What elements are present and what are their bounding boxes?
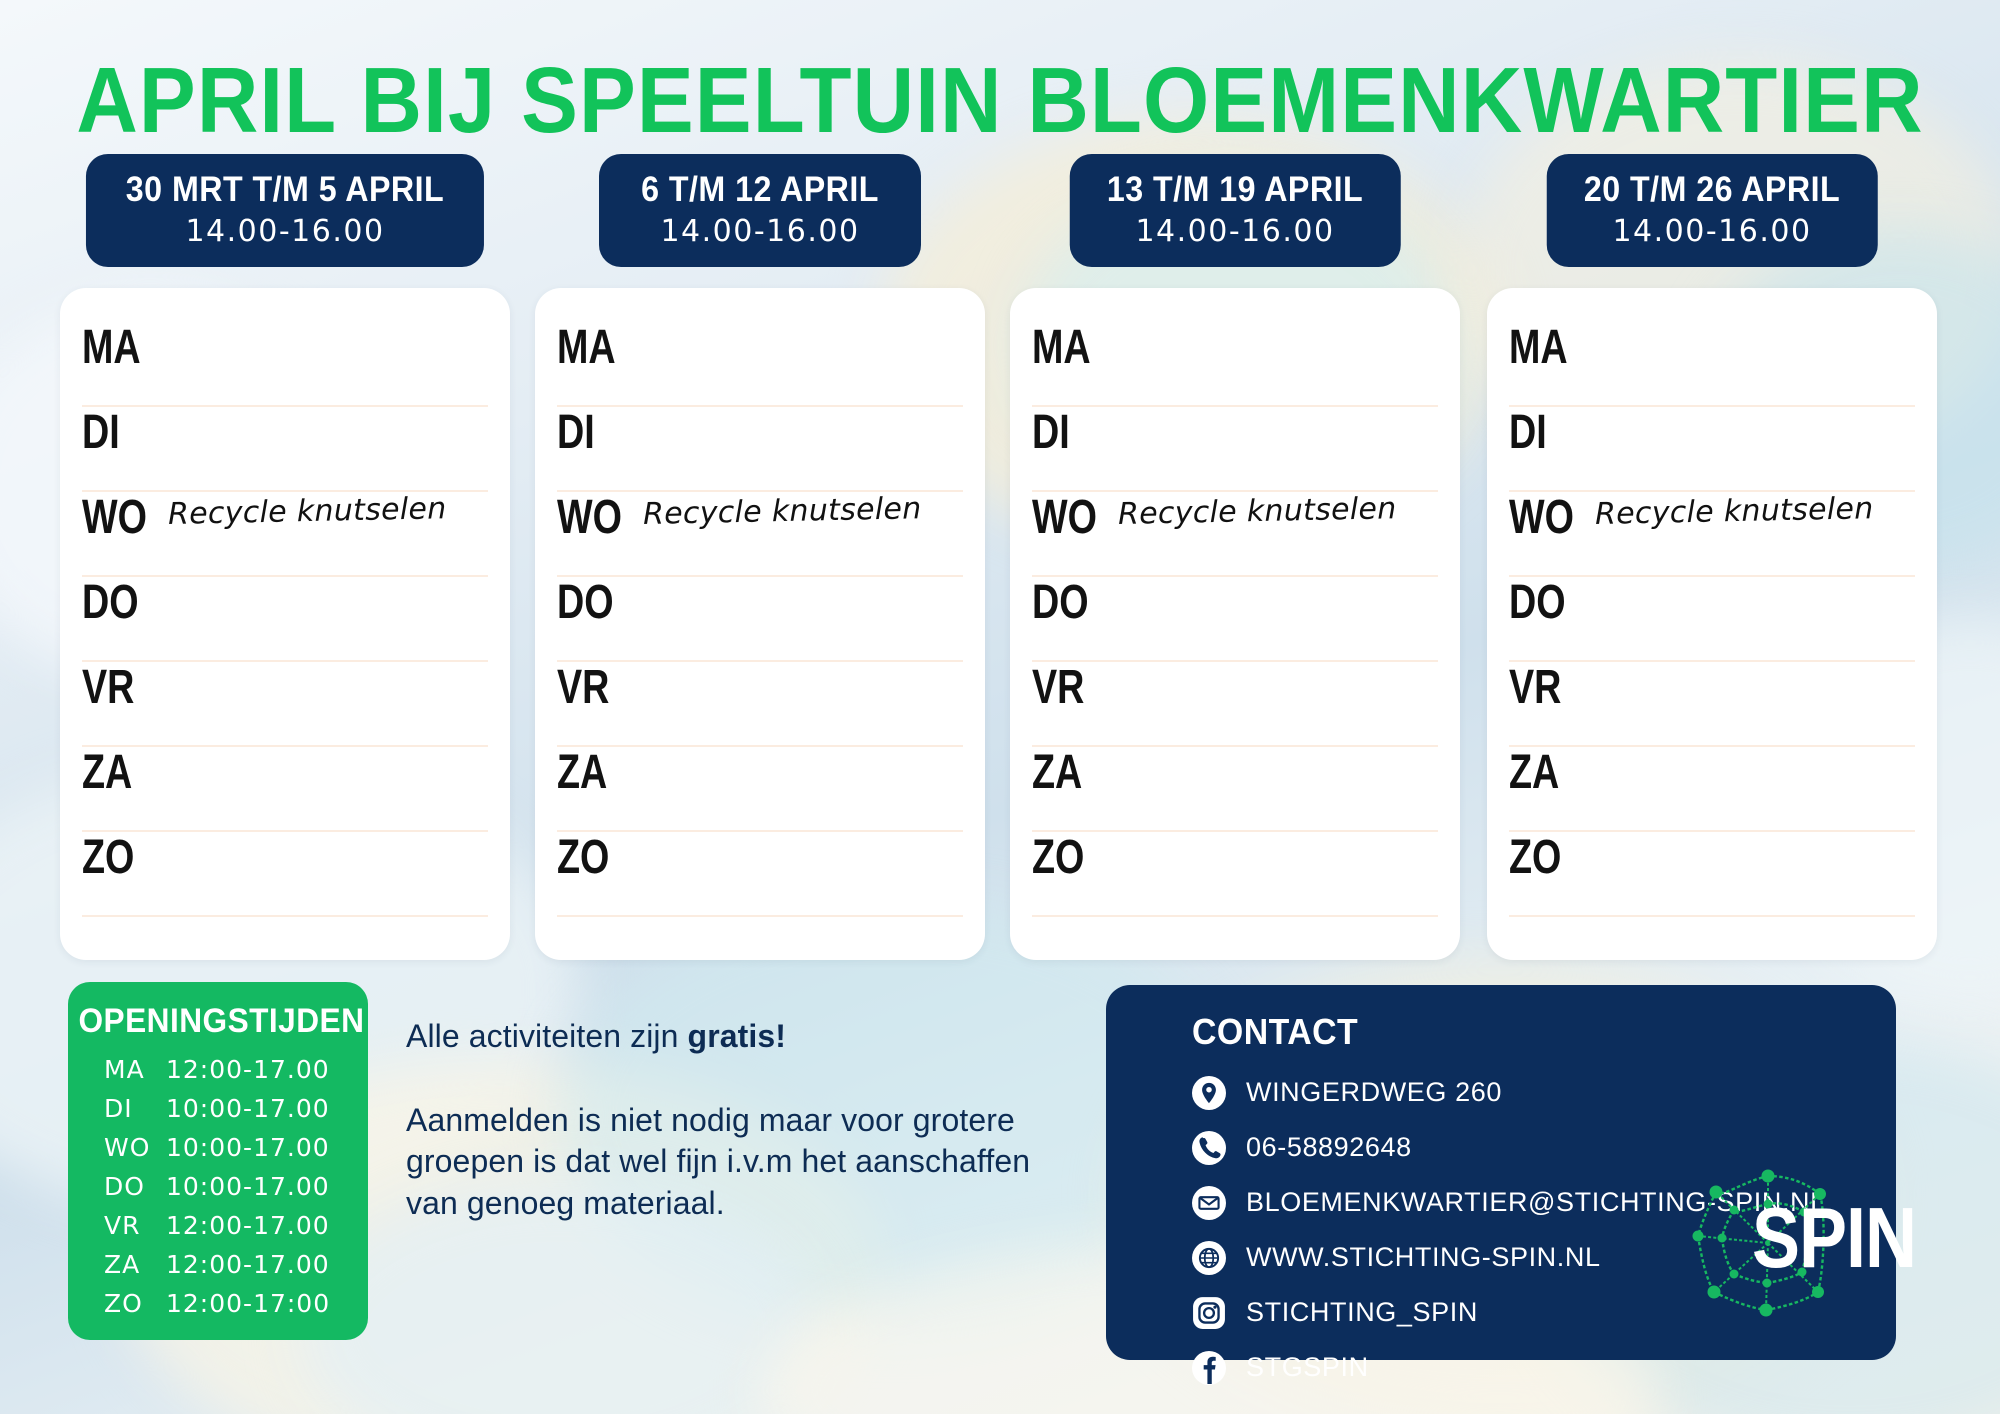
day-row: ZA bbox=[82, 747, 488, 832]
week-card-2: MA DI WORecycle knutselen DO VR ZA ZO 6 … bbox=[535, 288, 985, 960]
day-label: MA bbox=[1032, 322, 1103, 370]
opening-hours-row: ZO12:00-17:00 bbox=[68, 1289, 368, 1318]
day-row: MA bbox=[82, 322, 488, 407]
day-row: DI bbox=[557, 407, 963, 492]
day-label: DI bbox=[557, 407, 628, 455]
day-list: MA DI WORecycle knutselen DO VR ZA ZO bbox=[1487, 322, 1937, 917]
day-row: DO bbox=[557, 577, 963, 662]
day-label: WO bbox=[1032, 492, 1103, 540]
day-row: WORecycle knutselen bbox=[1509, 492, 1915, 577]
day-row: ZO bbox=[1032, 832, 1438, 917]
opening-hours-row: ZA12:00-17.00 bbox=[68, 1250, 368, 1279]
day-label: MA bbox=[82, 322, 153, 370]
week-card-body: MA DI WORecycle knutselen DO VR ZA ZO bbox=[60, 288, 510, 960]
info-free-prefix: Alle activiteiten zijn bbox=[406, 1018, 688, 1054]
day-activity: Recycle knutselen bbox=[168, 486, 447, 531]
day-row: ZO bbox=[82, 832, 488, 917]
day-row: WORecycle knutselen bbox=[557, 492, 963, 577]
day-label: DO bbox=[1509, 577, 1580, 625]
info-line-free: Alle activiteiten zijn gratis! bbox=[406, 1016, 1066, 1058]
spin-wordmark: SPIN bbox=[1752, 1196, 1916, 1281]
day-label: DI bbox=[1032, 407, 1103, 455]
contact-instagram-text: STICHTING_SPIN bbox=[1246, 1297, 1478, 1328]
week-card-4: MA DI WORecycle knutselen DO VR ZA ZO 20… bbox=[1487, 288, 1937, 960]
day-row: WORecycle knutselen bbox=[1032, 492, 1438, 577]
day-row: VR bbox=[1509, 662, 1915, 747]
opening-hours-time: 10:00-17.00 bbox=[166, 1172, 330, 1201]
contact-website-text: WWW.STICHTING-SPIN.NL bbox=[1246, 1242, 1601, 1273]
day-row: DI bbox=[1509, 407, 1915, 492]
week-card-3: MA DI WORecycle knutselen DO VR ZA ZO 13… bbox=[1010, 288, 1460, 960]
day-label: MA bbox=[1509, 322, 1580, 370]
contact-row-phone[interactable]: 06-58892648 bbox=[1192, 1124, 1896, 1171]
contact-facebook-text: STGSPIN bbox=[1246, 1352, 1369, 1383]
opening-hours-time: 12:00-17.00 bbox=[166, 1055, 330, 1084]
day-activity: Recycle knutselen bbox=[1118, 486, 1397, 531]
day-row: DO bbox=[1509, 577, 1915, 662]
day-label: ZA bbox=[1032, 747, 1103, 795]
day-label: MA bbox=[557, 322, 628, 370]
day-row: ZO bbox=[1509, 832, 1915, 917]
day-label: DO bbox=[557, 577, 628, 625]
day-row: ZA bbox=[1509, 747, 1915, 832]
day-label: ZO bbox=[1509, 832, 1580, 880]
day-list: MA DI WORecycle knutselen DO VR ZA ZO bbox=[535, 322, 985, 917]
poster-root: APRIL BIJ SPEELTUIN BLOEMENKWARTIER MA D… bbox=[0, 0, 2000, 1414]
location-pin-icon bbox=[1192, 1076, 1226, 1110]
week-time-range: 14.00-16.00 bbox=[112, 214, 458, 249]
day-row: WORecycle knutselen bbox=[82, 492, 488, 577]
opening-hours-time: 10:00-17.00 bbox=[166, 1094, 330, 1123]
day-label: ZO bbox=[1032, 832, 1103, 880]
week-cards-container: MA DI WORecycle knutselen DO VR ZA ZO 30… bbox=[0, 0, 2000, 960]
opening-hours-row: VR12:00-17.00 bbox=[68, 1211, 368, 1240]
opening-hours-day: ZA bbox=[104, 1250, 166, 1279]
instagram-icon bbox=[1192, 1296, 1226, 1330]
day-row: VR bbox=[1032, 662, 1438, 747]
day-label: ZA bbox=[557, 747, 628, 795]
day-list: MA DI WORecycle knutselen DO VR ZA ZO bbox=[1010, 322, 1460, 917]
day-row: MA bbox=[557, 322, 963, 407]
day-label: DI bbox=[82, 407, 153, 455]
day-label: VR bbox=[82, 662, 153, 710]
day-row: DI bbox=[1032, 407, 1438, 492]
contact-row-facebook[interactable]: STGSPIN bbox=[1192, 1344, 1896, 1391]
opening-hours-row: DO10:00-17.00 bbox=[68, 1172, 368, 1201]
opening-hours-title: OPENINGSTIJDEN bbox=[79, 1002, 358, 1041]
day-row: VR bbox=[82, 662, 488, 747]
day-label: DO bbox=[82, 577, 153, 625]
day-row: VR bbox=[557, 662, 963, 747]
contact-row-address[interactable]: WINGERDWEG 260 bbox=[1192, 1069, 1896, 1116]
week-date-range: 20 T/M 26 APRIL bbox=[1584, 170, 1840, 210]
week-time-range: 14.00-16.00 bbox=[1096, 214, 1375, 249]
contact-phone-text: 06-58892648 bbox=[1246, 1132, 1412, 1163]
contact-title: CONTACT bbox=[1192, 1011, 1854, 1053]
opening-hours-time: 10:00-17.00 bbox=[166, 1133, 330, 1162]
globe-icon bbox=[1192, 1241, 1226, 1275]
day-label: ZO bbox=[82, 832, 153, 880]
contact-address-text: WINGERDWEG 260 bbox=[1246, 1077, 1502, 1108]
day-row: ZA bbox=[557, 747, 963, 832]
day-row: ZA bbox=[1032, 747, 1438, 832]
week-date-range: 30 MRT T/M 5 APRIL bbox=[126, 170, 444, 210]
envelope-icon bbox=[1192, 1186, 1226, 1220]
week-header-badge: 13 T/M 19 APRIL 14.00-16.00 bbox=[1070, 154, 1401, 267]
week-header-badge: 30 MRT T/M 5 APRIL 14.00-16.00 bbox=[86, 154, 484, 267]
opening-hours-row: MA12:00-17.00 bbox=[68, 1055, 368, 1084]
opening-hours-day: DI bbox=[104, 1094, 166, 1123]
opening-hours-day: MA bbox=[104, 1055, 166, 1084]
day-row: DO bbox=[1032, 577, 1438, 662]
day-activity: Recycle knutselen bbox=[1595, 486, 1874, 531]
opening-hours-panel: OPENINGSTIJDEN MA12:00-17.00 DI10:00-17.… bbox=[68, 982, 368, 1340]
week-header-badge: 6 T/M 12 APRIL 14.00-16.00 bbox=[599, 154, 921, 267]
spin-logo: SPIN bbox=[1690, 1168, 1890, 1318]
phone-icon bbox=[1192, 1131, 1226, 1165]
day-label: WO bbox=[82, 492, 153, 540]
week-card-body: MA DI WORecycle knutselen DO VR ZA ZO bbox=[1487, 288, 1937, 960]
facebook-icon bbox=[1192, 1351, 1226, 1385]
opening-hours-day: WO bbox=[104, 1133, 166, 1162]
week-card-body: MA DI WORecycle knutselen DO VR ZA ZO bbox=[1010, 288, 1460, 960]
info-line-signup: Aanmelden is niet nodig maar voor groter… bbox=[406, 1100, 1066, 1225]
day-row: MA bbox=[1509, 322, 1915, 407]
day-row: MA bbox=[1032, 322, 1438, 407]
day-label: DI bbox=[1509, 407, 1580, 455]
week-card-body: MA DI WORecycle knutselen DO VR ZA ZO bbox=[535, 288, 985, 960]
info-text-block: Alle activiteiten zijn gratis! Aanmelden… bbox=[406, 1016, 1066, 1224]
day-activity: Recycle knutselen bbox=[643, 486, 922, 531]
opening-hours-time: 12:00-17:00 bbox=[166, 1289, 330, 1318]
opening-hours-time: 12:00-17.00 bbox=[166, 1211, 330, 1240]
day-row: ZO bbox=[557, 832, 963, 917]
opening-hours-day: ZO bbox=[104, 1289, 166, 1318]
opening-hours-day: VR bbox=[104, 1211, 166, 1240]
week-card-1: MA DI WORecycle knutselen DO VR ZA ZO 30… bbox=[60, 288, 510, 960]
day-label: VR bbox=[1032, 662, 1103, 710]
day-row: DO bbox=[82, 577, 488, 662]
day-label: WO bbox=[1509, 492, 1580, 540]
day-label: WO bbox=[557, 492, 628, 540]
day-label: ZO bbox=[557, 832, 628, 880]
day-label: DO bbox=[1032, 577, 1103, 625]
opening-hours-time: 12:00-17.00 bbox=[166, 1250, 330, 1279]
week-date-range: 13 T/M 19 APRIL bbox=[1107, 170, 1363, 210]
opening-hours-day: DO bbox=[104, 1172, 166, 1201]
day-label: VR bbox=[557, 662, 628, 710]
info-free-bold: gratis! bbox=[688, 1018, 787, 1054]
day-list: MA DI WORecycle knutselen DO VR ZA ZO bbox=[60, 322, 510, 917]
day-label: ZA bbox=[82, 747, 153, 795]
opening-hours-row: DI10:00-17.00 bbox=[68, 1094, 368, 1123]
day-label: ZA bbox=[1509, 747, 1580, 795]
opening-hours-row: WO10:00-17.00 bbox=[68, 1133, 368, 1162]
week-date-range: 6 T/M 12 APRIL bbox=[636, 170, 884, 210]
day-row: DI bbox=[82, 407, 488, 492]
week-time-range: 14.00-16.00 bbox=[1573, 214, 1852, 249]
day-label: VR bbox=[1509, 662, 1580, 710]
week-time-range: 14.00-16.00 bbox=[625, 214, 895, 249]
week-header-badge: 20 T/M 26 APRIL 14.00-16.00 bbox=[1547, 154, 1878, 267]
